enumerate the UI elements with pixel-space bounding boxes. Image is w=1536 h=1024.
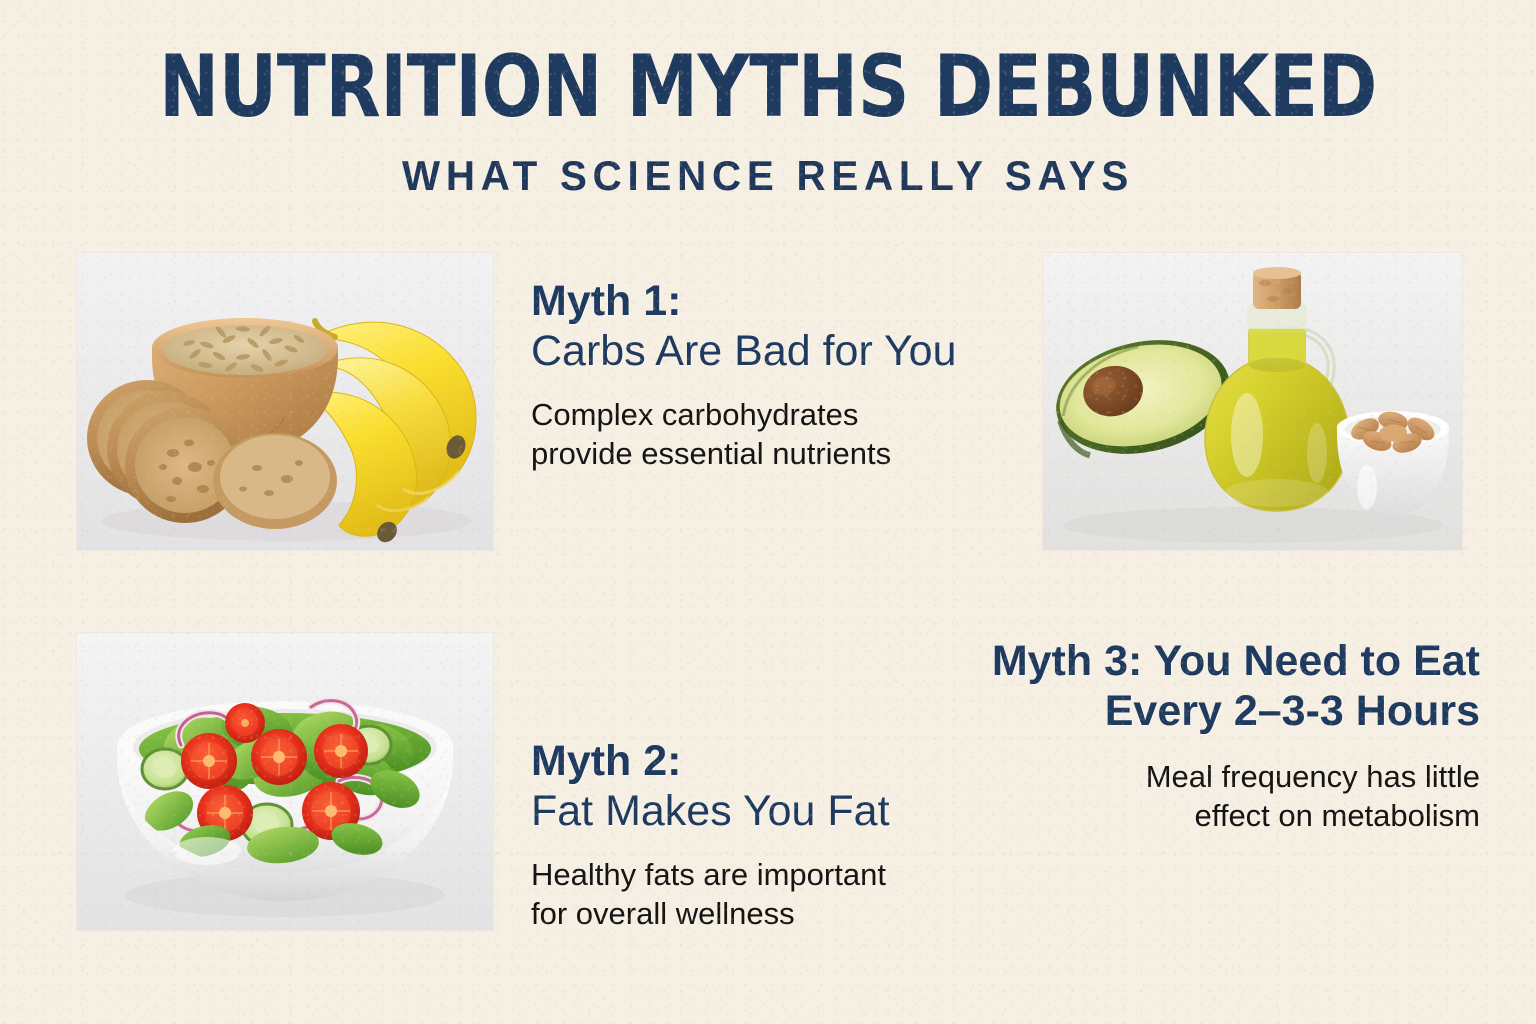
page-subtitle: WHAT SCIENCE REALLY SAYS xyxy=(31,152,1506,200)
myth-1-label: Myth 1: xyxy=(531,277,682,325)
myth-3-label: Myth 3: xyxy=(992,637,1143,685)
myth-1-heading: Myth 1: Carbs Are Bad for You xyxy=(531,277,1041,377)
myth-2-image xyxy=(77,633,493,930)
fats-photo-illustration xyxy=(1043,253,1462,550)
myth-3-fact: Meal frequency has little effect on meta… xyxy=(860,757,1480,836)
myth-1-claim: Carbs Are Bad for You xyxy=(531,327,957,375)
myth-2-claim: Fat Makes You Fat xyxy=(531,787,890,835)
carbs-photo-illustration xyxy=(77,253,493,550)
myth-2-fact: Healthy fats are important for overall w… xyxy=(531,855,961,934)
myth-2-fact-line-2: for overall wellness xyxy=(531,896,795,931)
myth-1-image xyxy=(77,253,493,550)
myth-3-claim-line-1: You Need to Eat xyxy=(1153,637,1480,685)
myth-3-block: Myth 3: You Need to Eat Every 2–3-3 Hour… xyxy=(860,637,1480,836)
myth-1-fact-line-2: provide essential nutrients xyxy=(531,436,891,471)
myth-3-claim-line-2: Every 2–3-3 Hours xyxy=(1105,687,1480,735)
myth-3-image xyxy=(1043,253,1462,550)
myth-3-fact-line-1: Meal frequency has little xyxy=(1146,759,1480,794)
page-title: NUTRITION MYTHS DEBUNKED xyxy=(54,44,1482,130)
myth-1-fact-line-1: Complex carbohydrates xyxy=(531,397,858,432)
salad-photo-illustration xyxy=(77,633,493,930)
myth-1-fact: Complex carbohydrates provide essential … xyxy=(531,395,1041,474)
myth-2-label: Myth 2: xyxy=(531,737,682,785)
myth-1-block: Myth 1: Carbs Are Bad for You Complex ca… xyxy=(531,277,1041,474)
myth-3-fact-line-2: effect on metabolism xyxy=(1195,798,1480,833)
myth-2-fact-line-1: Healthy fats are important xyxy=(531,857,886,892)
myth-3-heading: Myth 3: You Need to Eat Every 2–3-3 Hour… xyxy=(860,637,1480,737)
